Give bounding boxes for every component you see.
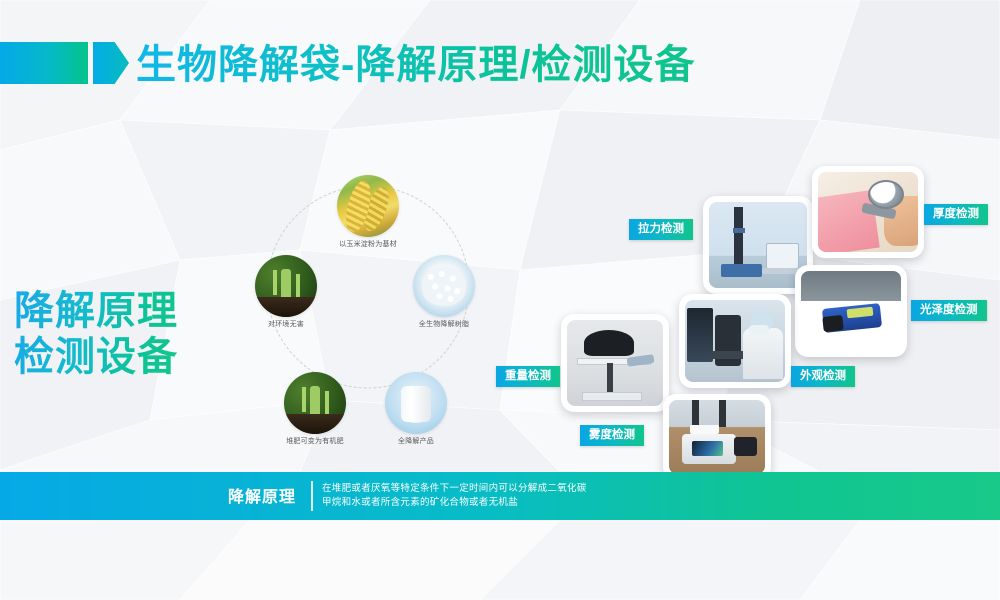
bottom-info-bar: 降解原理 在堆肥或者厌氧等特定条件下一定时间内可以分解成二氧化碳 甲烷和水或者所… [0, 472, 1000, 520]
cycle-node-eco[interactable]: 对环境无害 [255, 255, 317, 317]
corn-photo [337, 175, 399, 237]
page-header: 生物降解袋-降解原理/检测设备 [0, 36, 1000, 94]
tag-weight[interactable]: 重量检测 [496, 366, 560, 387]
sprout-photo [255, 255, 317, 317]
tag-appearance[interactable]: 外观检测 [791, 366, 855, 387]
section-heading-line1: 降解原理 [14, 288, 178, 334]
tag-haze[interactable]: 雾度检测 [580, 425, 644, 446]
equipment-card-appearance[interactable] [679, 294, 791, 388]
bottom-bar-description: 在堆肥或者厌氧等特定条件下一定时间内可以分解成二氧化碳 甲烷和水或者所含元素的矿… [322, 482, 587, 510]
tag-thickness[interactable]: 厚度检测 [924, 204, 988, 225]
cycle-node-label: 以玉米淀粉为基材 [339, 239, 397, 249]
cycle-node-product[interactable]: 全降解产品 [385, 372, 447, 434]
equipment-card-thickness[interactable] [812, 166, 924, 258]
bottom-bar-description-line1: 在堆肥或者厌氧等特定条件下一定时间内可以分解成二氧化碳 [322, 482, 587, 496]
tag-tensile[interactable]: 拉力检测 [629, 219, 693, 240]
cycle-node-label: 全降解产品 [398, 436, 434, 446]
cycle-node-resin[interactable]: 全生物降解树脂 [413, 255, 475, 317]
cycle-node-label: 对环境无害 [268, 319, 304, 329]
section-heading: 降解原理 检测设备 [14, 288, 178, 380]
play-arrow-icon [93, 42, 129, 84]
cycle-node-compost[interactable]: 堆肥可变为有机肥 [284, 372, 346, 434]
tag-gloss[interactable]: 光泽度检测 [911, 300, 987, 321]
bottom-bar-title: 降解原理 [228, 483, 296, 507]
cycle-node-label: 堆肥可变为有机肥 [286, 436, 344, 446]
weight-balance-photo [567, 320, 663, 406]
thickness-gauge-photo [818, 172, 918, 252]
sprout-photo [284, 372, 346, 434]
roll-photo [385, 372, 447, 434]
bottom-bar-description-line2: 甲烷和水或者所含元素的矿化合物或者无机盐 [322, 496, 587, 510]
cycle-node-corn[interactable]: 以玉米淀粉为基材 [337, 175, 399, 237]
equipment-card-weight[interactable] [561, 314, 669, 412]
poster-canvas: 生物降解袋-降解原理/检测设备 降解原理 检测设备 以玉米淀粉为基材 全生物降解… [0, 0, 1000, 600]
equipment-card-haze[interactable] [663, 394, 771, 480]
haze-meter-photo [669, 400, 765, 474]
bottom-bar-divider [311, 481, 313, 511]
microscope-photo [685, 300, 785, 382]
tensile-tester-photo [709, 202, 807, 288]
degradation-cycle-diagram: 以玉米淀粉为基材 全生物降解树脂 全降解产品 堆肥可变为有机肥 对环境无害 [248, 175, 488, 440]
resin-photo [413, 255, 475, 317]
cycle-node-label: 全生物降解树脂 [419, 319, 469, 329]
section-heading-line2: 检测设备 [14, 334, 178, 380]
page-title: 生物降解袋-降解原理/检测设备 [136, 36, 695, 94]
gloss-meter-photo [801, 271, 901, 351]
header-accent-bar [0, 42, 88, 84]
equipment-card-gloss[interactable] [795, 265, 907, 357]
